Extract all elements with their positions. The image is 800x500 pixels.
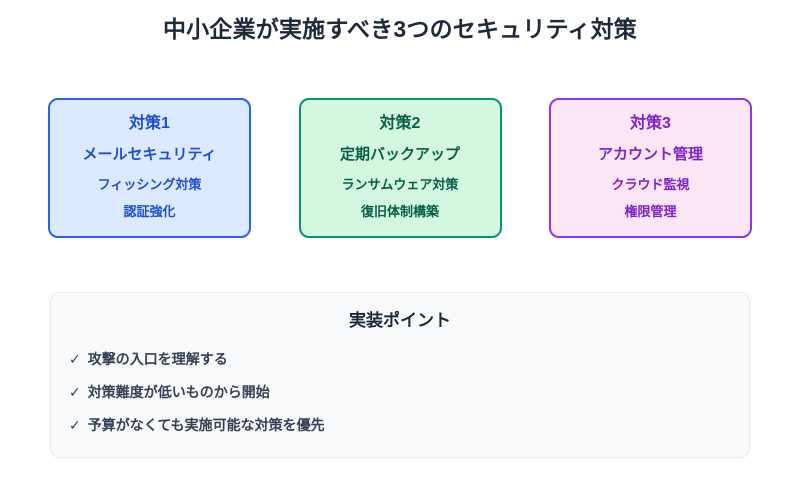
page-title: 中小企業が実施すべき3つのセキュリティ対策 — [0, 14, 800, 44]
measure-card-2[interactable]: 対策2 定期バックアップ ランサムウェア対策 復旧体制構築 — [299, 98, 502, 238]
measure-card-3-item-2: 権限管理 — [624, 202, 676, 221]
measure-card-1[interactable]: 対策1 メールセキュリティ フィッシング対策 認証強化 — [48, 98, 251, 238]
check-icon: ✓ — [69, 415, 81, 435]
measure-card-3-item-1: クラウド監視 — [611, 175, 689, 194]
measure-card-2-item-1: ランサムウェア対策 — [342, 175, 459, 194]
measure-card-1-title: メールセキュリティ — [82, 144, 216, 165]
list-item: ✓ 対策難度が低いものから開始 — [69, 382, 749, 402]
measure-card-2-label: 対策2 — [380, 113, 421, 135]
measure-card-3-label: 対策3 — [630, 113, 671, 135]
list-item: ✓ 予算がなくても実施可能な対策を優先 — [69, 415, 749, 435]
measure-card-3[interactable]: 対策3 アカウント管理 クラウド監視 権限管理 — [549, 98, 752, 238]
measure-card-3-title: アカウント管理 — [598, 144, 703, 165]
measures-card-row: 対策1 メールセキュリティ フィッシング対策 認証強化 対策2 定期バックアップ… — [48, 98, 752, 238]
measure-card-1-item-2: 認証強化 — [123, 202, 175, 221]
measure-card-1-item-1: フィッシング対策 — [98, 175, 202, 194]
implementation-points-panel: 実装ポイント ✓ 攻撃の入口を理解する ✓ 対策難度が低いものから開始 ✓ 予算… — [50, 292, 750, 458]
list-item-label: 対策難度が低いものから開始 — [88, 382, 270, 402]
implementation-points-heading: 実装ポイント — [51, 309, 749, 333]
measure-card-1-label: 対策1 — [129, 113, 170, 135]
implementation-points-list: ✓ 攻撃の入口を理解する ✓ 対策難度が低いものから開始 ✓ 予算がなくても実施… — [51, 349, 749, 435]
check-icon: ✓ — [69, 382, 81, 402]
measure-card-2-title: 定期バックアップ — [340, 144, 460, 165]
list-item-label: 予算がなくても実施可能な対策を優先 — [88, 415, 325, 435]
list-item: ✓ 攻撃の入口を理解する — [69, 349, 749, 369]
check-icon: ✓ — [69, 349, 81, 369]
list-item-label: 攻撃の入口を理解する — [88, 349, 228, 369]
measure-card-2-item-2: 復旧体制構築 — [361, 202, 439, 221]
slide-canvas: 中小企業が実施すべき3つのセキュリティ対策 対策1 メールセキュリティ フィッシ… — [0, 0, 800, 500]
